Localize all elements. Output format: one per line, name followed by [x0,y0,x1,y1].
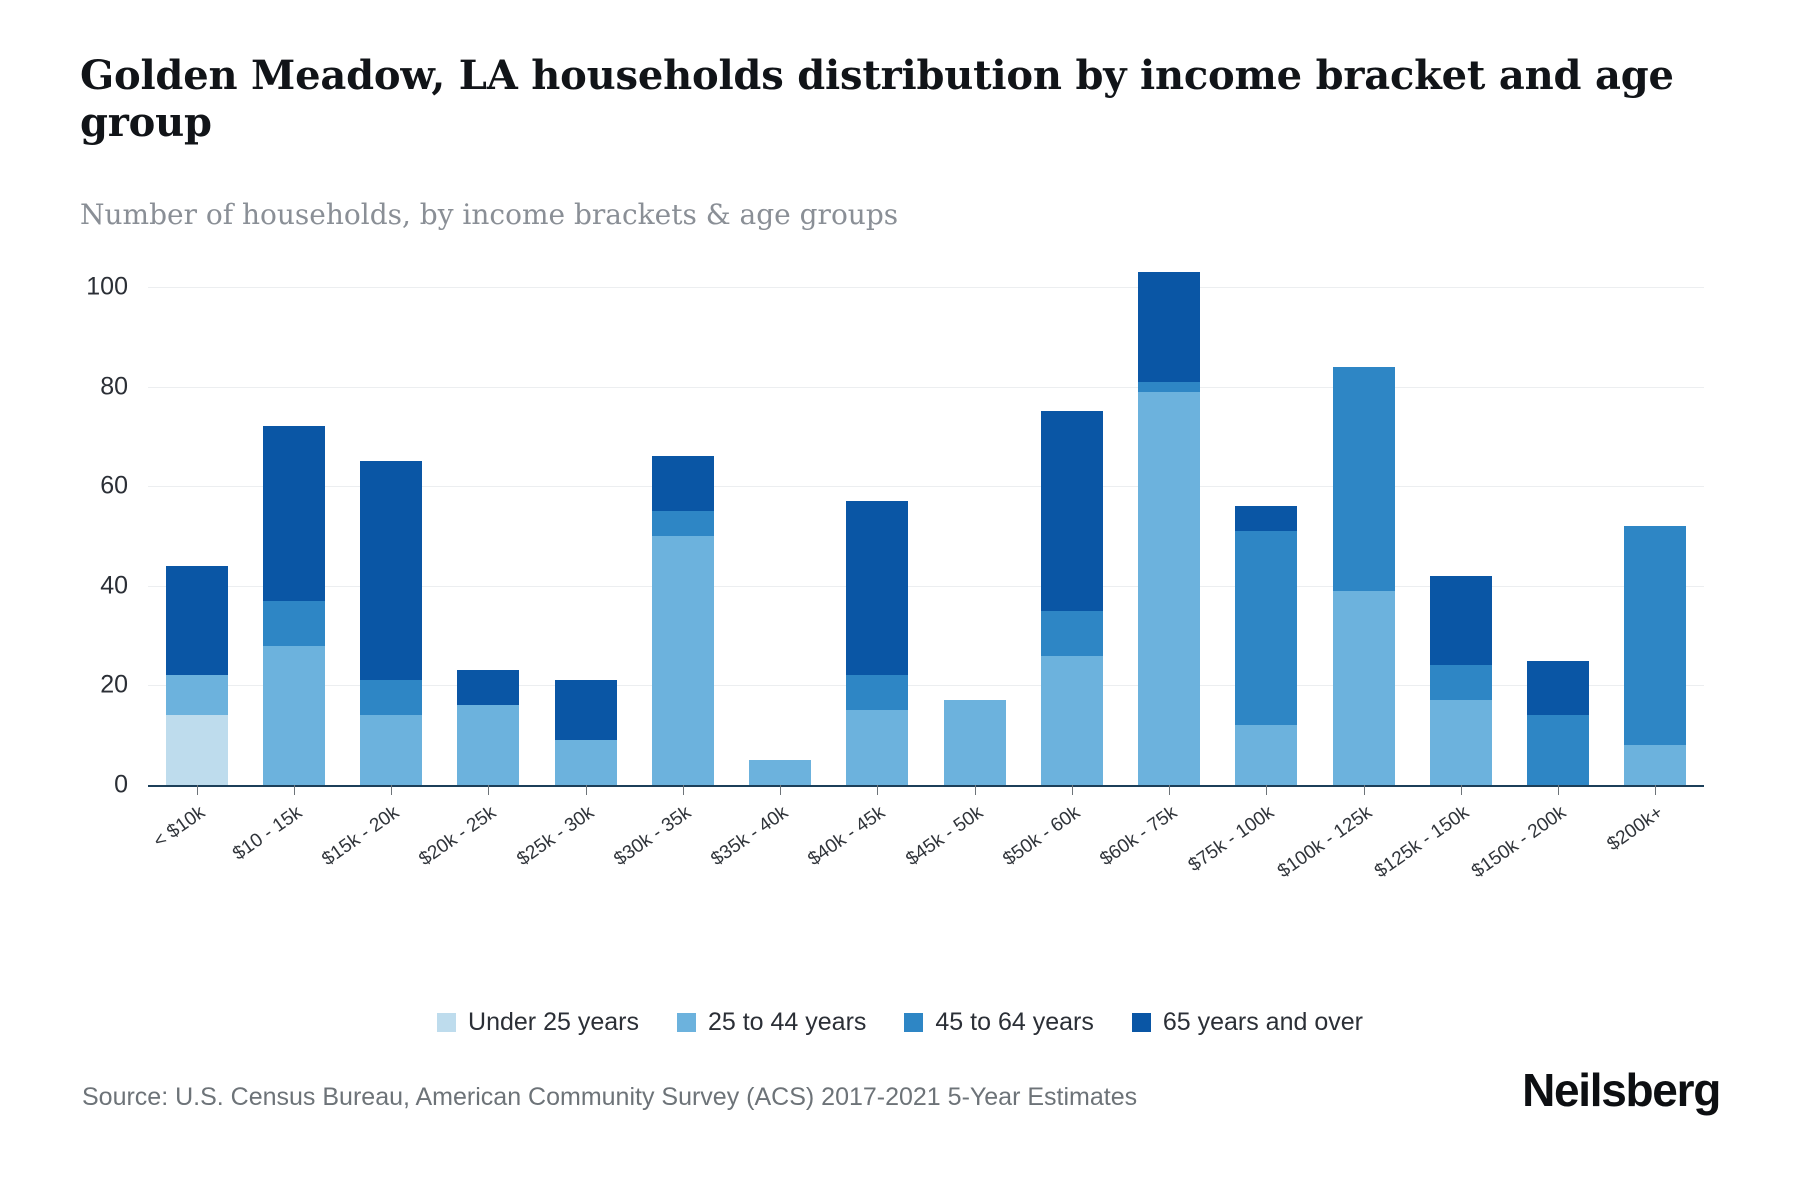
legend-item[interactable]: 65 years and over [1132,1008,1363,1037]
bar-segment[interactable] [360,461,422,680]
legend-label: 45 to 64 years [935,1008,1093,1037]
page-title: Golden Meadow, LA households distributio… [80,52,1700,146]
legend-item[interactable]: Under 25 years [437,1008,639,1037]
x-tick-cell [634,785,731,797]
bar-stack[interactable] [944,700,1006,785]
x-tick-cell [1607,785,1704,797]
bar-segment[interactable] [166,715,228,785]
x-tick-cell [926,785,1023,797]
legend-swatch-icon [437,1013,456,1032]
x-axis-tick-label: $200k+ [1604,802,1668,856]
x-tick-mark [1266,785,1267,795]
bar-group[interactable] [732,272,829,785]
bar-group[interactable] [245,272,342,785]
bar-segment[interactable] [263,426,325,600]
x-tick-cell [537,785,634,797]
bar-segment[interactable] [263,601,325,646]
bar-group[interactable] [1121,272,1218,785]
bar-segment[interactable] [555,680,617,740]
legend-swatch-icon [904,1013,923,1032]
x-tick-mark [1461,785,1462,795]
x-tick-mark [488,785,489,795]
x-axis-tick-label: < $10k [149,802,209,853]
bar-segment[interactable] [749,760,811,785]
bar-segment[interactable] [652,536,714,785]
x-tick-mark [1655,785,1656,795]
chart-legend: Under 25 years25 to 44 years45 to 64 yea… [0,1008,1800,1037]
y-axis-tick-label: 20 [58,671,128,700]
x-tick-mark [780,785,781,795]
x-tick-cell [148,785,245,797]
bar-segment[interactable] [652,456,714,511]
bar-segment[interactable] [1235,725,1297,785]
bar-segment[interactable] [1138,382,1200,392]
source-note: Source: U.S. Census Bureau, American Com… [82,1083,1137,1112]
x-tick-cell [1412,785,1509,797]
bar-stack[interactable] [1041,411,1103,785]
x-tick-cell [732,785,829,797]
legend-swatch-icon [1132,1013,1151,1032]
bar-stack[interactable] [846,501,908,785]
bar-segment[interactable] [846,501,908,675]
bar-segment[interactable] [263,646,325,785]
bar-segment[interactable] [1138,392,1200,785]
bar-group[interactable] [1218,272,1315,785]
bar-stack[interactable] [1527,661,1589,786]
bar-segment[interactable] [457,670,519,705]
bar-segment[interactable] [652,511,714,536]
bar-segment[interactable] [846,710,908,785]
bar-stack[interactable] [263,426,325,785]
bar-segment[interactable] [166,566,228,676]
bar-group[interactable] [926,272,1023,785]
page-subtitle: Number of households, by income brackets… [80,198,1480,232]
x-tick-mark [1364,785,1365,795]
bar-series-group [148,272,1704,785]
legend-label: 25 to 44 years [708,1008,866,1037]
x-tick-mark [1072,785,1073,795]
x-label-cell: < $10k [148,798,245,908]
bar-segment[interactable] [1430,700,1492,785]
bar-segment[interactable] [457,705,519,785]
x-tick-cell [245,785,342,797]
bar-segment[interactable] [360,680,422,715]
bar-group[interactable] [1510,272,1607,785]
bar-stack[interactable] [749,760,811,785]
bar-stack[interactable] [360,461,422,785]
bar-segment[interactable] [1333,591,1395,785]
x-tick-mark [975,785,976,795]
bar-segment[interactable] [1235,506,1297,531]
bar-segment[interactable] [944,700,1006,785]
bar-segment[interactable] [1527,715,1589,785]
legend-item[interactable]: 25 to 44 years [677,1008,866,1037]
x-label-cell: $200k+ [1607,798,1704,908]
bar-group[interactable] [634,272,731,785]
bar-segment[interactable] [1041,411,1103,610]
x-axis-tick-marks [148,785,1704,797]
bar-segment[interactable] [1138,272,1200,382]
bar-stack[interactable] [1430,576,1492,785]
bar-segment[interactable] [1527,661,1589,716]
bar-stack[interactable] [1138,272,1200,785]
bar-segment[interactable] [166,675,228,715]
bar-group[interactable] [1412,272,1509,785]
bar-segment[interactable] [1333,367,1395,591]
x-tick-mark [391,785,392,795]
x-tick-cell [829,785,926,797]
bar-segment[interactable] [555,740,617,785]
x-tick-cell [1121,785,1218,797]
x-tick-mark [294,785,295,795]
bar-group[interactable] [1315,272,1412,785]
y-axis-tick-label: 80 [58,372,128,401]
x-tick-cell [343,785,440,797]
bar-stack[interactable] [1333,367,1395,785]
x-tick-mark [683,785,684,795]
bar-group[interactable] [1023,272,1120,785]
bar-group[interactable] [1607,272,1704,785]
x-tick-cell [1315,785,1412,797]
bar-segment[interactable] [1041,611,1103,656]
y-axis-tick-label: 100 [58,272,128,301]
x-tick-mark [1169,785,1170,795]
bar-stack[interactable] [1235,506,1297,785]
bar-stack[interactable] [457,670,519,785]
legend-swatch-icon [677,1013,696,1032]
bar-group[interactable] [148,272,245,785]
bar-group[interactable] [343,272,440,785]
legend-label: 65 years and over [1163,1008,1363,1037]
bar-segment[interactable] [1430,665,1492,700]
bar-segment[interactable] [1624,745,1686,785]
bar-segment[interactable] [846,675,908,710]
bar-stack[interactable] [555,680,617,785]
x-tick-mark [586,785,587,795]
bar-segment[interactable] [1041,656,1103,785]
x-label-cell: $150k - 200k [1510,798,1607,908]
x-tick-cell [440,785,537,797]
x-axis-tick-labels: < $10k$10 - 15k$15k - 20k$20k - 25k$25k … [148,798,1704,908]
chart-page: Golden Meadow, LA households distributio… [0,0,1800,1200]
x-tick-cell [1510,785,1607,797]
bar-segment[interactable] [1235,531,1297,725]
bar-group[interactable] [829,272,926,785]
x-tick-mark [877,785,878,795]
x-tick-mark [1558,785,1559,795]
y-axis-tick-label: 0 [58,771,128,800]
x-tick-cell [1218,785,1315,797]
legend-label: Under 25 years [468,1008,639,1037]
y-axis-tick-label: 60 [58,472,128,501]
bar-stack[interactable] [1624,526,1686,785]
y-axis-tick-label: 40 [58,571,128,600]
x-tick-cell [1023,785,1120,797]
bar-group[interactable] [537,272,634,785]
bar-stack[interactable] [652,456,714,785]
bar-stack[interactable] [166,566,228,785]
bar-segment[interactable] [1624,526,1686,745]
bar-segment[interactable] [1430,576,1492,666]
x-tick-mark [197,785,198,795]
brand-logo: Neilsberg [1522,1063,1720,1117]
bar-group[interactable] [440,272,537,785]
bar-segment[interactable] [360,715,422,785]
legend-item[interactable]: 45 to 64 years [904,1008,1093,1037]
plot-area [148,272,1704,785]
